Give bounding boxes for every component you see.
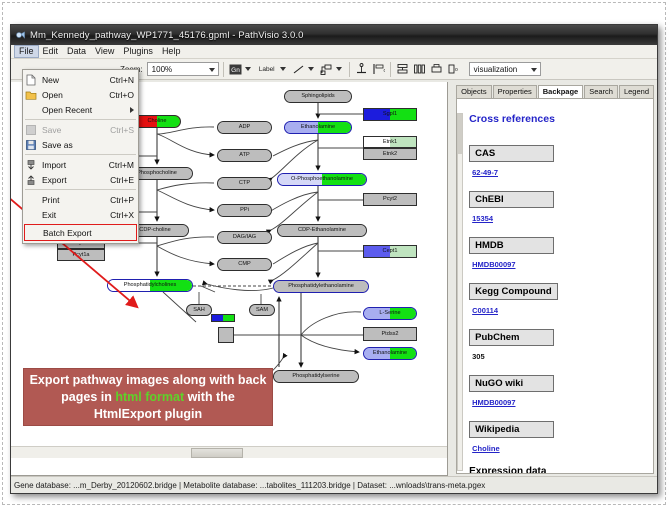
menu-item-batch-export[interactable]: Batch Export [24,224,137,241]
pathway-gene-pcyt2[interactable]: Pcyt2 [363,193,417,206]
pathway-gene-etnk2[interactable]: Etnk2 [363,148,417,160]
node-label: O-Phosphoethanolamine [291,176,353,183]
node-label: Etnk1 [383,139,397,146]
xref-label: ChEBI [469,191,554,208]
menu-item-print[interactable]: Print Ctrl+P [23,192,138,207]
node-label: Phosphatidylethanolamine [288,283,354,290]
menu-item-save-as[interactable]: Save as [23,137,138,152]
tab-backpage[interactable]: Backpage [538,85,583,99]
xref-value-link[interactable]: HMDB00097 [472,260,515,269]
pathway-node-ethanolamine-bottom[interactable]: Ethanolamine [363,347,417,360]
callout-line-3: HtmlExport plugin [94,406,202,423]
node-label: PPi [240,207,249,214]
pathway-gene-etnk1[interactable]: Etnk1 [363,136,417,148]
xref-label: Kegg Compound [469,283,558,300]
menu-plugins[interactable]: Plugins [119,45,158,58]
pathway-node-ctp[interactable]: CTP [217,177,272,190]
app-icon [15,30,26,41]
align-left-button[interactable]: o [371,62,386,77]
group-button[interactable]: o [446,62,461,77]
anchor-tool-button[interactable] [354,62,369,77]
xref-value-link[interactable]: 62-49-7 [472,168,498,177]
zoom-value: 100% [152,65,172,74]
file-menu-dropdown[interactable]: New Ctrl+N Open Ctrl+O Open Recent [22,69,139,244]
expression-data-title: Expression data [469,466,643,474]
pathway-node-ethanolamine-top[interactable]: Ethanolamine [284,121,352,134]
pathway-gene-cept1[interactable]: Cept1 [363,245,417,258]
xref-label: Wikipedia [469,421,554,438]
pathway-node-sah[interactable]: SAH [186,304,212,316]
node-label: ADP [239,124,251,131]
menu-item-exit[interactable]: Exit Ctrl+X [23,207,138,222]
blank-icon-4 [26,227,40,239]
menu-label: Open Recent [42,105,134,115]
datanode-gpml-button[interactable]: Gn [228,62,243,77]
pathway-gene-ptdss2[interactable]: Ptdss2 [363,327,417,341]
save-as-icon [25,139,39,151]
tab-objects[interactable]: Objects [456,85,491,98]
node-label: Cept1 [383,248,398,255]
node-label: SAM [256,307,268,314]
backpage-content: Cross references CAS 62-49-7 ChEBI 15354… [456,98,654,474]
tab-properties[interactable]: Properties [493,85,537,98]
pathway-node-phosphatidylcholines[interactable]: Phosphatidylcholines [107,279,193,292]
menu-item-export[interactable]: Export Ctrl+E [23,172,138,187]
label-dropdown-icon[interactable] [280,67,286,71]
menu-label: Open [42,90,103,100]
xref-label: PubChem [469,329,554,346]
xref-value-link[interactable]: 15354 [472,214,493,223]
label-tool-button[interactable]: Label [256,62,278,77]
zoom-combo[interactable]: 100% [147,62,219,76]
node-label: CDP-Ethanolamine [298,227,346,234]
status-text: Gene database: ...m_Derby_20120602.bridg… [11,481,485,490]
label-tool-text: Label [259,66,275,73]
columns-button[interactable] [412,62,427,77]
xref-value-link[interactable]: C00114 [472,306,498,315]
menu-shortcut: Ctrl+E [110,175,134,185]
menu-edit[interactable]: Edit [39,45,64,58]
xref-pubchem: PubChem 305 [469,327,643,364]
svg-text:o: o [455,67,458,73]
pathway-node-sphingolipids[interactable]: Sphingolipids [284,90,352,103]
node-label: Sgpl1 [383,111,397,118]
node-label: CMP [238,261,250,268]
blank-icon-2 [25,194,39,206]
callout-line-1: Export pathway images along with back [30,372,267,389]
import-icon [25,159,39,171]
save-disk-icon [25,124,39,136]
backpage-scrollbar[interactable] [457,113,463,471]
pathway-node-cmp[interactable]: CMP [217,258,272,271]
scrollbar-thumb[interactable] [191,448,243,458]
side-panel-tabs[interactable]: Objects Properties Backpage Search Legen… [450,84,654,98]
title-bar: Mm_Kennedy_pathway_WP1771_45176.gpml - P… [11,25,657,45]
interaction-tool-button[interactable] [319,62,334,77]
xref-value-link[interactable]: Choline [472,444,500,453]
pathway-node-cdp-ethanolamine[interactable]: CDP-Ethanolamine [277,224,367,237]
node-label: CTP [239,180,250,187]
node-label: Phosphocholine [137,170,177,177]
visualization-combo[interactable]: visualization [469,62,541,76]
interaction-dropdown-icon[interactable] [336,67,342,71]
menu-bar[interactable]: File Edit Data View Plugins Help [11,45,657,59]
menu-shortcut: Ctrl+P [110,195,134,205]
node-label: DAG/IAG [233,234,256,241]
menu-view[interactable]: View [91,45,119,58]
svg-text:o: o [383,68,385,74]
blank-icon-3 [25,209,39,221]
tab-search[interactable]: Search [584,85,618,98]
menu-separator-2 [25,154,136,155]
menu-label: Save [42,125,104,135]
menu-shortcut: Ctrl+S [110,125,134,135]
node-label: Ptdss2 [381,331,398,338]
node-fill-left [212,315,223,321]
status-bar: Gene database: ...m_Derby_20120602.bridg… [11,476,657,493]
menu-label: New [42,75,104,85]
menu-item-import[interactable]: Import Ctrl+M [23,157,138,172]
menu-shortcut: Ctrl+X [110,210,134,220]
node-label: SAH [193,307,205,314]
new-document-icon [25,74,39,86]
chevron-down-icon-2 [531,68,537,72]
xref-value-link[interactable]: HMDB00097 [472,398,515,407]
cross-references-title: Cross references [469,113,643,125]
menu-file[interactable]: File [14,45,39,58]
menu-label: Export [42,175,104,185]
tab-legend[interactable]: Legend [619,85,654,98]
pathway-gene-pcyt1a[interactable]: Pcyt1a [57,249,105,261]
menu-separator [25,119,136,120]
menu-label: Import [42,160,103,170]
node-label: Choline [148,118,167,125]
menu-help[interactable]: Help [158,45,186,58]
cross-references-list: Cross references CAS 62-49-7 ChEBI 15354… [457,99,653,474]
backpage-scrollbar-thumb[interactable] [458,114,462,154]
xref-kegg-compound: Kegg Compound C00114 [469,281,643,318]
node-label: Ethanolamine [373,350,407,357]
canvas-horizontal-scrollbar[interactable] [11,446,448,458]
node-label: Phosphatidylcholines [124,282,177,289]
xref-label: NuGO wiki [469,375,554,392]
xref-cas: CAS 62-49-7 [469,143,643,180]
node-fill-right [223,315,234,321]
blank-icon [25,104,39,116]
pathway-node-dag-iag[interactable]: DAG/IAG [217,231,272,244]
pathway-gene-chka-box[interactable] [218,327,234,343]
pathway-node-sam[interactable]: SAM [249,304,275,316]
line-dropdown-icon[interactable] [308,67,314,71]
pathway-node-choline-top[interactable]: Choline [133,115,181,128]
menu-shortcut: Ctrl+N [110,75,134,85]
line-tool-button[interactable] [291,62,306,77]
node-label: ATP [239,152,249,159]
open-folder-icon [25,89,39,101]
pathway-node-phosphatidylethanolamine[interactable]: Phosphatidylethanolamine [273,280,369,293]
xref-wikipedia: Wikipedia Choline [469,419,643,456]
window-title: Mm_Kennedy_pathway_WP1771_45176.gpml - P… [30,30,304,41]
xref-chebi: ChEBI 15354 [469,189,643,226]
pathway-node-adp[interactable]: ADP [217,121,272,134]
node-label: Pcyt2 [383,196,397,203]
menu-item-new[interactable]: New Ctrl+N [23,72,138,87]
node-label: Sphingolipids [301,93,334,100]
pathway-node-o-phosphoethanolamine[interactable]: O-Phosphoethanolamine [277,173,367,186]
node-label: CDP-choline [139,227,170,234]
menu-label: Batch Export [43,228,132,238]
pathvisio-window: Mm_Kennedy_pathway_WP1771_45176.gpml - P… [10,24,658,494]
pathway-node-phosphatidylserine[interactable]: Phosphatidylserine [273,370,359,383]
callout-line-2: pages in html format with the [61,389,235,406]
menu-item-save[interactable]: Save Ctrl+S [23,122,138,137]
menu-shortcut: Ctrl+M [109,160,134,170]
datanode-dropdown-icon[interactable] [245,67,251,71]
pathway-gene-pemt-box[interactable] [211,314,235,322]
node-label: Phosphatidylserine [292,373,339,380]
menu-label: Print [42,195,104,205]
screenshot-root: Mm_Kennedy_pathway_WP1771_45176.gpml - P… [0,0,670,509]
xref-hmdb: HMDB HMDB00097 [469,235,643,272]
pathway-node-l-serine[interactable]: L-Serine [363,307,417,320]
side-panel: Objects Properties Backpage Search Legen… [448,82,657,476]
callout-highlight: html format [115,390,184,404]
menu-label: Exit [42,210,104,220]
stack-button[interactable] [395,62,410,77]
submenu-arrow-icon [130,107,134,113]
callout-line-2-pre: pages in [61,390,115,404]
print-button[interactable] [429,62,444,77]
menu-item-open[interactable]: Open Ctrl+O [23,87,138,102]
callout-line-2-post: with the [184,390,235,404]
node-label: Pcyt1a [72,252,89,259]
toolbar-divider-2 [349,62,350,77]
svg-text:Gn: Gn [231,67,240,74]
xref-nugo-wiki: NuGO wiki HMDB00097 [469,373,643,410]
toolbar-divider-3 [390,62,391,77]
pathway-node-ppi[interactable]: PPi [217,204,272,217]
node-label: L-Serine [379,310,400,317]
menu-shortcut: Ctrl+O [109,90,134,100]
export-icon [25,174,39,186]
visualization-value: visualization [474,65,518,74]
chevron-down-icon [209,68,215,72]
node-label: Etnk2 [383,151,397,158]
pathway-node-atp[interactable]: ATP [217,149,272,162]
xref-value-text: 305 [472,352,485,361]
menu-item-open-recent[interactable]: Open Recent [23,102,138,117]
toolbar-divider [223,62,224,77]
menu-data[interactable]: Data [63,45,91,58]
menu-label: Save as [42,140,128,150]
xref-label: HMDB [469,237,554,254]
annotation-callout: Export pathway images along with back pa… [23,368,273,426]
menu-separator-3 [25,189,136,190]
pathway-gene-sgpl1[interactable]: Sgpl1 [363,108,417,121]
node-label: Ethanolamine [301,124,335,131]
xref-label: CAS [469,145,554,162]
